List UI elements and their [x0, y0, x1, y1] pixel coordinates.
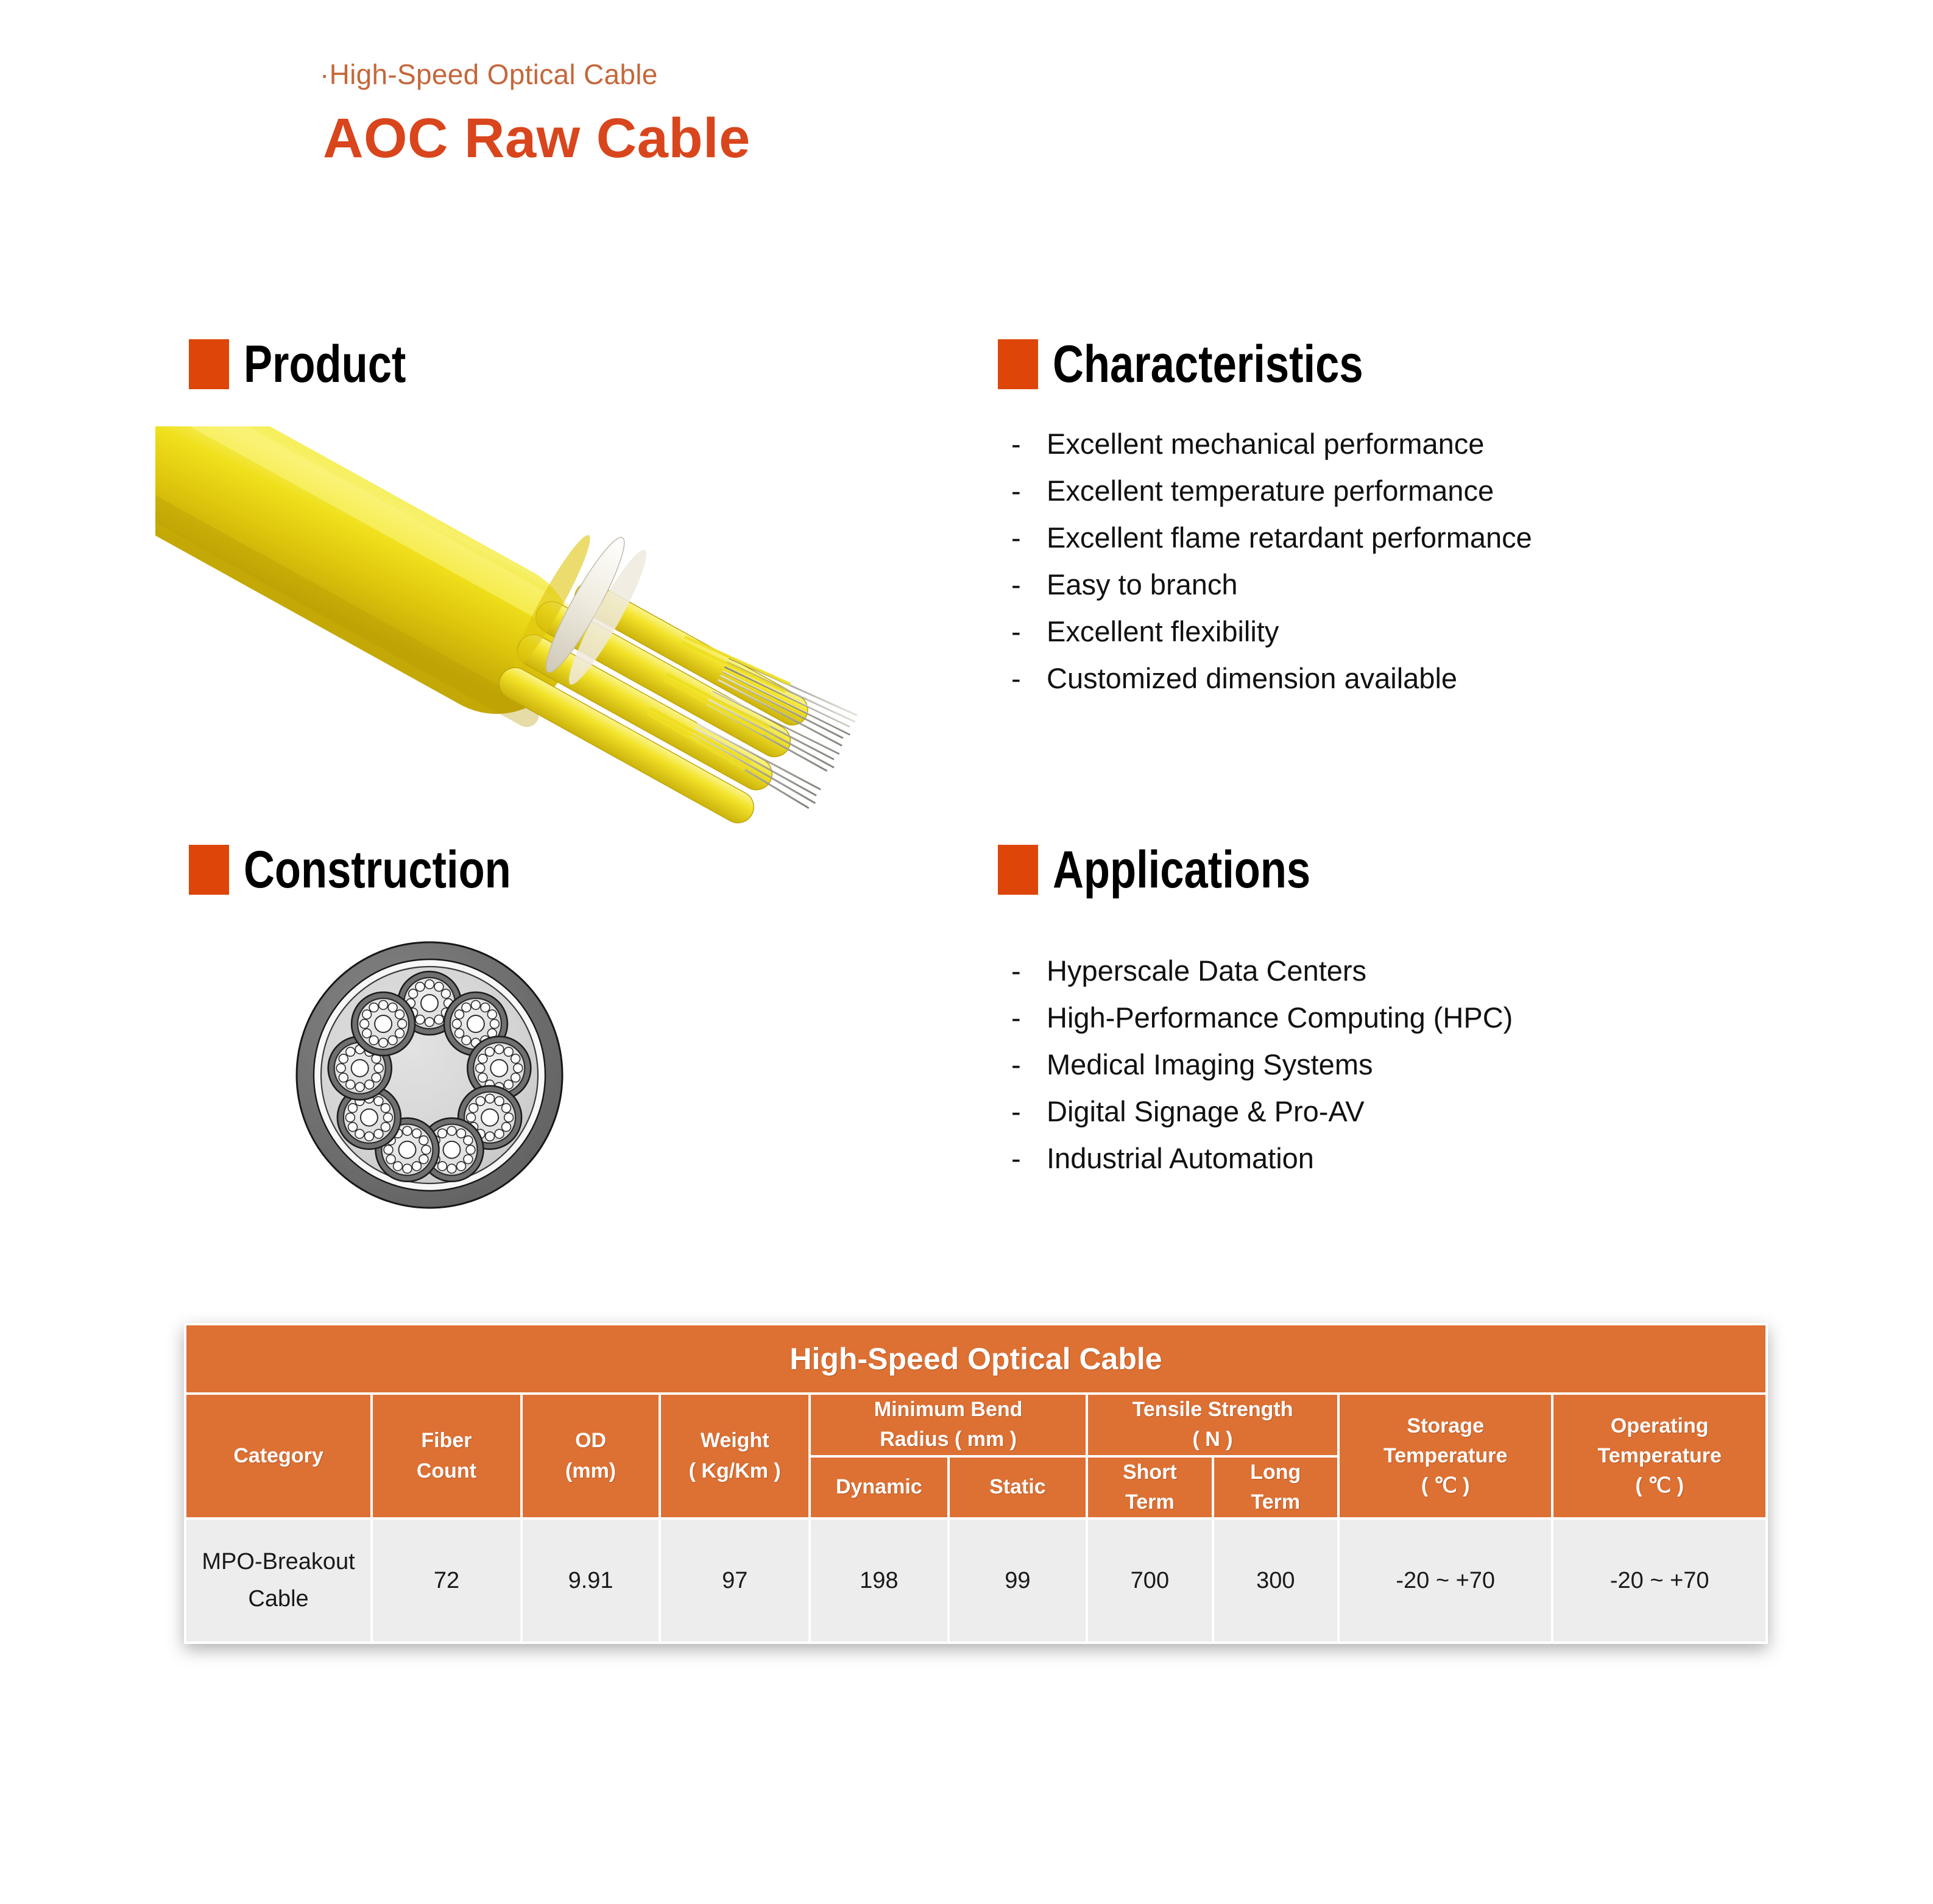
list-item: - Medical Imaging Systems	[1011, 1050, 1876, 1097]
page-title: AOC Raw Cable	[323, 107, 751, 171]
bullet-dash-icon: -	[1011, 617, 1047, 646]
header-category: Category	[186, 1395, 370, 1517]
header-storage-line2: Temperature	[1340, 1441, 1551, 1471]
bullet-dash-icon: -	[1011, 1097, 1047, 1126]
header-weight: Weight ( Kg/Km )	[661, 1395, 808, 1517]
section-heading-product: Product	[189, 338, 442, 390]
list-item: - Excellent temperature performance	[1011, 476, 1876, 523]
bullet-dash-icon: -	[1011, 570, 1047, 599]
list-item-label: High-Performance Computing (HPC)	[1047, 1003, 1876, 1032]
header-tensile-line2: ( N )	[1088, 1425, 1337, 1454]
list-item: - Excellent flame retardant performance	[1011, 523, 1876, 570]
header-tensile-short-term: Short Term	[1088, 1458, 1211, 1518]
table-title: High-Speed Optical Cable	[186, 1325, 1765, 1392]
bullet-dash-icon: -	[1011, 1050, 1047, 1079]
spec-table: High-Speed Optical Cable Category Fiber …	[184, 1323, 1768, 1644]
cable-cross-section-svg	[292, 938, 567, 1212]
section-title-characteristics: Characteristics	[1053, 338, 1363, 390]
header-bend-dynamic: Dynamic	[811, 1458, 947, 1518]
list-item-label: Medical Imaging Systems	[1047, 1050, 1876, 1079]
list-item: - Easy to branch	[1011, 570, 1876, 617]
header-weight-line2: ( Kg/Km )	[661, 1456, 808, 1486]
bullet-dash-icon: -	[1011, 664, 1047, 693]
table-row: MPO-Breakout Cable 72 9.91 97 198 99 700…	[186, 1520, 1765, 1641]
applications-list: - Hyperscale Data Centers - High-Perform…	[1011, 956, 1876, 1191]
accent-square-icon	[189, 339, 229, 389]
list-item-label: Excellent mechanical performance	[1047, 429, 1876, 458]
header-tensile-strength: Tensile Strength ( N )	[1088, 1395, 1337, 1455]
list-item-label: Industrial Automation	[1047, 1144, 1876, 1172]
list-item: - Excellent mechanical performance	[1011, 429, 1876, 476]
list-item-label: Hyperscale Data Centers	[1047, 956, 1876, 985]
section-heading-construction: Construction	[189, 844, 570, 896]
header-long-line2: Term	[1214, 1487, 1337, 1517]
cell-weight: 97	[661, 1520, 808, 1641]
section-title-applications: Applications	[1053, 844, 1310, 896]
header-operating-line2: Temperature	[1553, 1441, 1765, 1471]
specification-table: High-Speed Optical Cable Category Fiber …	[184, 1323, 1768, 1644]
list-item: - Excellent flexibility	[1011, 617, 1876, 664]
accent-square-icon	[998, 339, 1038, 389]
bullet-dash-icon: -	[1011, 429, 1047, 458]
header-fiber-count-line1: Fiber	[373, 1426, 520, 1456]
accent-square-icon	[998, 845, 1038, 895]
cell-fiber-count: 72	[373, 1520, 520, 1641]
header-operating-line3: ( ℃ )	[1553, 1471, 1765, 1501]
header-short-line1: Short	[1088, 1458, 1211, 1487]
header-weight-line1: Weight	[661, 1426, 808, 1456]
list-item: - Customized dimension available	[1011, 664, 1876, 711]
list-item: - Hyperscale Data Centers	[1011, 956, 1876, 1003]
header-bend-line1: Minimum Bend	[811, 1395, 1086, 1425]
header-tensile-long-term: Long Term	[1214, 1458, 1337, 1518]
header-od-line1: OD	[523, 1426, 659, 1456]
header-storage-line1: Storage	[1340, 1411, 1551, 1441]
header-minimum-bend-radius: Minimum Bend Radius ( mm )	[811, 1395, 1086, 1455]
cell-od: 9.91	[523, 1520, 659, 1641]
accent-square-icon	[189, 845, 229, 895]
bullet-dash-icon: -	[1011, 476, 1047, 505]
header-fiber-count-line2: Count	[373, 1456, 520, 1486]
construction-cross-section-diagram	[292, 938, 567, 1212]
bullet-dash-icon: -	[1011, 1144, 1047, 1172]
list-item-label: Excellent flexibility	[1047, 617, 1876, 646]
cell-category: MPO-Breakout Cable	[186, 1520, 370, 1641]
list-item-label: Excellent flame retardant performance	[1047, 523, 1876, 552]
list-item-label: Customized dimension available	[1047, 664, 1876, 693]
cell-tensile-short: 700	[1088, 1520, 1211, 1641]
table-title-row: High-Speed Optical Cable	[186, 1325, 1765, 1392]
header-bend-static: Static	[950, 1458, 1086, 1518]
header-operating-temperature: Operating Temperature ( ℃ )	[1553, 1395, 1765, 1517]
header-tensile-line1: Tensile Strength	[1088, 1395, 1337, 1425]
cell-bend-dynamic: 198	[811, 1520, 947, 1641]
list-item-label: Digital Signage & Pro-AV	[1047, 1097, 1876, 1126]
header-long-line1: Long	[1214, 1458, 1337, 1487]
header-operating-line1: Operating	[1553, 1411, 1765, 1441]
cell-storage-temp: -20 ~ +70	[1340, 1520, 1551, 1641]
characteristics-list: - Excellent mechanical performance - Exc…	[1011, 429, 1876, 711]
cell-tensile-long: 300	[1214, 1520, 1337, 1641]
cell-operating-temp: -20 ~ +70	[1553, 1520, 1765, 1641]
list-item: - High-Performance Computing (HPC)	[1011, 1003, 1876, 1050]
header-od-line2: (mm)	[523, 1456, 659, 1486]
header-od: OD (mm)	[523, 1395, 659, 1517]
header-storage-line3: ( ℃ )	[1340, 1471, 1551, 1501]
list-item: - Industrial Automation	[1011, 1144, 1876, 1191]
list-item: - Digital Signage & Pro-AV	[1011, 1097, 1876, 1144]
header-fiber-count: Fiber Count	[373, 1395, 520, 1517]
header-short-line2: Term	[1088, 1487, 1211, 1517]
cable-photo-illustration	[155, 426, 892, 847]
section-title-construction: Construction	[244, 844, 511, 896]
section-title-product: Product	[244, 338, 406, 390]
list-item-label: Easy to branch	[1047, 570, 1876, 599]
header-storage-temperature: Storage Temperature ( ℃ )	[1340, 1395, 1551, 1517]
section-heading-characteristics: Characteristics	[998, 338, 1431, 390]
bullet-dash-icon: -	[1011, 1003, 1047, 1032]
section-heading-applications: Applications	[998, 844, 1367, 896]
bullet-dash-icon: -	[1011, 956, 1047, 985]
product-photo	[155, 426, 892, 847]
list-item-label: Excellent temperature performance	[1047, 476, 1876, 505]
header-bend-line2: Radius ( mm )	[811, 1425, 1086, 1454]
cell-bend-static: 99	[950, 1520, 1086, 1641]
table-header-row-1: Category Fiber Count OD (mm) Weight ( Kg…	[186, 1395, 1765, 1455]
bullet-dash-icon: -	[1011, 523, 1047, 552]
page-subtitle: ·High-Speed Optical Cable	[320, 58, 658, 91]
